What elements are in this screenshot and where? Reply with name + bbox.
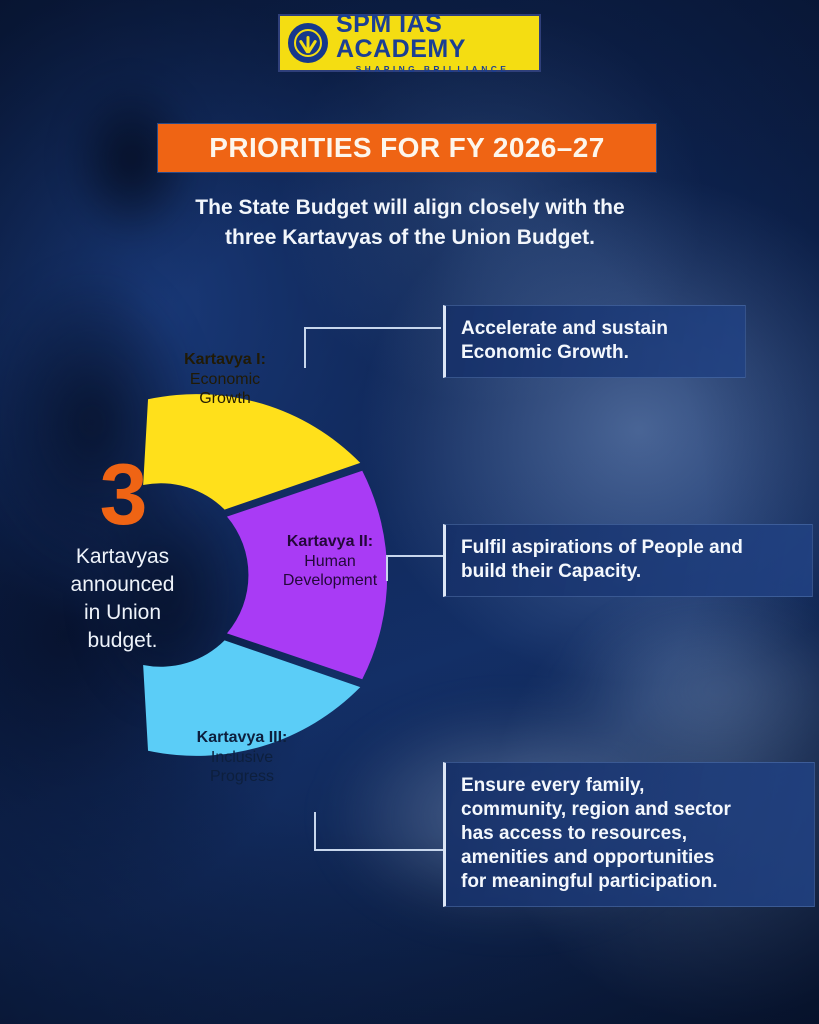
headline-title: PRIORITIES FOR FY 2026–27 xyxy=(209,132,604,164)
caption-line-1: Kartavyas xyxy=(30,543,215,571)
subtitle-line-1: The State Budget will align closely with… xyxy=(110,193,710,223)
callout-3-line-3: has access to resources, xyxy=(461,822,798,846)
subtitle-line-2: three Kartavyas of the Union Budget. xyxy=(110,223,710,253)
callout-1-line-2: Economic Growth. xyxy=(461,341,729,365)
subtitle: The State Budget will align closely with… xyxy=(110,193,710,253)
kartavya-count-caption: Kartavyas announced in Union budget. xyxy=(30,543,215,656)
callout-2-line-2: build their Capacity. xyxy=(461,560,796,584)
callout-3-line-4: amenities and opportunities xyxy=(461,846,798,870)
callout-human-development: Fulfil aspirations of People and build t… xyxy=(443,524,813,597)
callout-3-line-1: Ensure every family, xyxy=(461,774,798,798)
callout-2-line-1: Fulfil aspirations of People and xyxy=(461,536,796,560)
callout-economic-growth: Accelerate and sustain Economic Growth. xyxy=(443,305,746,378)
callout-inclusive-progress: Ensure every family, community, region a… xyxy=(443,762,815,907)
caption-line-3: in Union xyxy=(30,599,215,627)
kartavya-count-number: 3 xyxy=(30,455,215,537)
spm-emblem-icon xyxy=(288,23,328,63)
callout-1-line-1: Accelerate and sustain xyxy=(461,317,729,341)
donut-segment-kartavya-2[interactable] xyxy=(227,471,387,679)
kartavya-count-block: 3 Kartavyas announced in Union budget. xyxy=(30,455,215,655)
callout-3-line-5: for meaningful participation. xyxy=(461,870,798,894)
brand-name: SPM IAS ACADEMY xyxy=(336,12,529,62)
brand-logo: SPM IAS ACADEMY SHAPING BRILLIANCE xyxy=(278,14,541,72)
headline-banner: PRIORITIES FOR FY 2026–27 xyxy=(157,123,657,173)
callout-3-line-2: community, region and sector xyxy=(461,798,798,822)
brand-tagline: SHAPING BRILLIANCE xyxy=(336,65,529,74)
caption-line-2: announced xyxy=(30,571,215,599)
caption-line-4: budget. xyxy=(30,627,215,655)
